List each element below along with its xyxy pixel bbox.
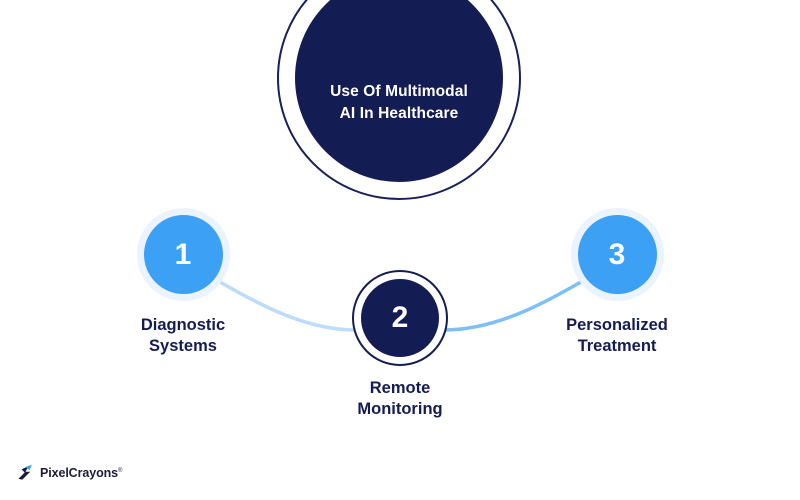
diagram-node-2[interactable]: 2 Remote Monitoring — [310, 272, 490, 420]
pixelcrayons-logo-icon — [16, 463, 35, 482]
node-2-circle: 2 — [354, 272, 446, 364]
node-3-number: 3 — [609, 240, 626, 270]
node-3-circle: 3 — [571, 208, 664, 301]
node-2-number: 2 — [392, 303, 409, 333]
footer-trademark: ® — [118, 467, 122, 473]
node-1-label: Diagnostic Systems — [93, 315, 273, 357]
footer-logo[interactable]: PixelCrayons® — [16, 463, 122, 482]
footer-brand-name: PixelCrayons — [40, 466, 118, 480]
footer-brand-text: PixelCrayons® — [40, 466, 122, 480]
hub-node: Use Of Multimodal AI In Healthcare — [277, 0, 525, 204]
node-1-circle: 1 — [137, 208, 230, 301]
node-2-label: Remote Monitoring — [310, 378, 490, 420]
node-3-label: Personalized Treatment — [527, 315, 707, 357]
diagram-node-1[interactable]: 1 Diagnostic Systems — [93, 208, 273, 357]
node-1-number: 1 — [175, 240, 192, 270]
hub-title: Use Of Multimodal AI In Healthcare — [330, 81, 468, 125]
diagram-node-3[interactable]: 3 Personalized Treatment — [527, 208, 707, 357]
